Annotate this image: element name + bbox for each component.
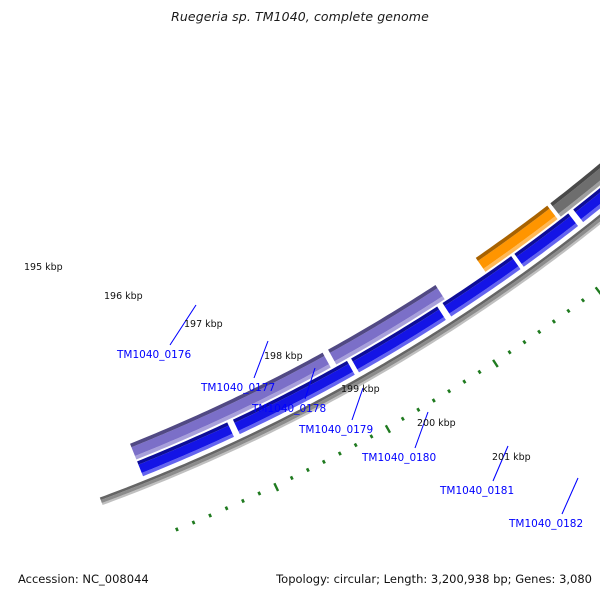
tick-mark xyxy=(291,476,293,479)
gene-label-TM1040_0181[interactable]: TM1040_0181 xyxy=(439,485,514,497)
axis-tick-label: 200 kbp xyxy=(417,418,456,429)
axis-tick-label: 195 kbp xyxy=(24,262,63,273)
tick-mark xyxy=(242,499,243,502)
tick-mark xyxy=(596,287,600,294)
tick-mark xyxy=(463,380,465,383)
tick-mark xyxy=(339,452,341,455)
tick-mark xyxy=(509,351,511,354)
tick-mark xyxy=(433,399,435,402)
tick-mark xyxy=(493,360,498,367)
forward-strand-features[interactable] xyxy=(137,15,600,476)
axis-tick-label: 197 kbp xyxy=(184,319,223,330)
tick-mark xyxy=(307,468,309,471)
tick-mark xyxy=(193,521,194,524)
tick-mark xyxy=(274,483,278,491)
gene-label-TM1040_0180[interactable]: TM1040_0180 xyxy=(361,452,436,464)
tick-mark xyxy=(479,370,481,373)
gene-label-TM1040_0182[interactable]: TM1040_0182 xyxy=(508,518,583,530)
tick-mark xyxy=(386,425,390,432)
gene-label-TM1040_0177[interactable]: TM1040_0177 xyxy=(200,382,275,394)
tick-mark xyxy=(209,514,210,517)
tick-mark xyxy=(402,417,404,420)
tick-mark xyxy=(538,330,540,333)
gene-label-TM1040_0176[interactable]: TM1040_0176 xyxy=(116,349,191,361)
tick-mark xyxy=(259,492,261,495)
gene-label-TM1040_0178[interactable]: TM1040_0178 xyxy=(251,403,326,415)
tick-mark xyxy=(355,443,357,446)
gene-label-TM1040_0179[interactable]: TM1040_0179 xyxy=(298,424,373,436)
tick-mark xyxy=(226,507,227,510)
axis-tick-label: 196 kbp xyxy=(104,291,143,302)
axis-tick-labels: 195 kbp196 kbp197 kbp198 kbp199 kbp200 k… xyxy=(24,262,531,463)
axis-tick-label: 201 kbp xyxy=(492,452,531,463)
tick-mark xyxy=(417,408,419,411)
genome-map-canvas[interactable]: 195 kbp196 kbp197 kbp198 kbp199 kbp200 k… xyxy=(0,0,600,600)
genome-map-svg[interactable]: 195 kbp196 kbp197 kbp198 kbp199 kbp200 k… xyxy=(0,0,600,600)
tick-mark xyxy=(567,310,569,313)
axis-tick-label: 199 kbp xyxy=(341,384,380,395)
tick-mark xyxy=(176,528,177,531)
tick-mark xyxy=(582,299,584,302)
tick-mark xyxy=(448,390,450,393)
axis-tick-label: 198 kbp xyxy=(264,351,303,362)
accession-text: Accession: NC_008044 xyxy=(18,572,149,586)
status-bar: Accession: NC_008044 Topology: circular;… xyxy=(0,562,600,600)
tick-mark xyxy=(323,460,325,463)
tick-mark xyxy=(523,341,525,344)
gene-label-leader xyxy=(562,478,578,514)
topology-text: Topology: circular; Length: 3,200,938 bp… xyxy=(276,572,592,586)
tick-mark xyxy=(553,320,555,323)
genome-viewer-window: Ruegeria sp. TM1040, complete genome 195… xyxy=(0,0,600,600)
